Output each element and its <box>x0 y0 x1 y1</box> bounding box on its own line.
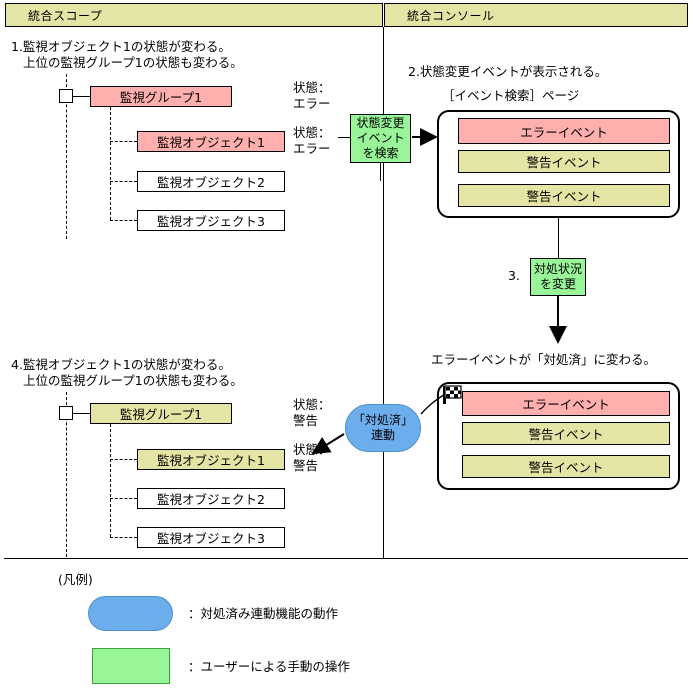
tree-branch-top-3 <box>110 220 137 221</box>
tree-child-spine-bottom <box>110 424 111 537</box>
event-row-after-2[interactable]: 警告イベント <box>462 422 670 445</box>
step1-line1: 1.監視オブジェクト1の状態が変わる。 <box>11 39 231 55</box>
tree-child-spine-top <box>110 107 111 220</box>
legend-label-manual-op: ：ユーザーによる手動の操作 <box>188 659 350 675</box>
monitor-object-box-bottom-3[interactable]: 監視オブジェクト3 <box>137 527 285 548</box>
monitor-object-label-top-2: 監視オブジェクト2 <box>157 172 265 191</box>
monitor-object-box-top-2[interactable]: 監視オブジェクト2 <box>137 171 285 192</box>
status-value-group-bottom: 警告 <box>293 413 318 429</box>
manual-op-search-event-line1: 状態変更 <box>356 116 404 131</box>
legend-title: (凡例) <box>58 572 93 588</box>
event-row-before-3[interactable]: 警告イベント <box>458 184 670 207</box>
monitor-object-box-top-1[interactable]: 監視オブジェクト1 <box>137 131 285 152</box>
monitor-object-box-bottom-1[interactable]: 監視オブジェクト1 <box>137 449 285 470</box>
manual-op-search-event-line2: イベント <box>356 131 404 146</box>
legend-swatch-link-action <box>88 596 173 631</box>
monitor-object-box-top-3[interactable]: 監視オブジェクト3 <box>137 210 285 231</box>
connector-panel-to-step3 <box>558 218 559 258</box>
legend-divider <box>4 558 688 559</box>
connector-search-tail <box>380 163 381 181</box>
manual-op-change-status[interactable]: 対処状況 を変更 <box>530 258 586 296</box>
status-value-object-bottom: 警告 <box>293 458 318 474</box>
status-label-object-top: 状態： <box>293 125 331 141</box>
event-row-after-3[interactable]: 警告イベント <box>462 455 670 478</box>
tree-branch-top-2 <box>110 181 137 182</box>
connector-status-to-search <box>338 137 350 138</box>
step2-text: 2.状態変更イベントが表示される。 <box>408 64 607 80</box>
manual-op-search-event-line3: を検索 <box>362 146 398 161</box>
tree-root-node-top <box>59 89 73 103</box>
link-callout-line2: 連動 <box>371 428 395 443</box>
after-change-caption: エラーイベントが「対処済」に変わる。 <box>431 352 656 368</box>
tree-root-connector-bottom <box>73 413 90 414</box>
tree-branch-bottom-2 <box>110 498 137 499</box>
step1-line2: 上位の監視グループ1の状態も変わる。 <box>23 55 243 71</box>
monitor-object-label-top-1: 監視オブジェクト1 <box>157 132 265 151</box>
event-search-page-label: ［イベント検索］ページ <box>442 88 579 104</box>
column-header-scope-label: 統合スコープ <box>6 7 102 24</box>
event-row-after-3-label: 警告イベント <box>528 457 603 476</box>
step4-line1: 4.監視オブジェクト1の状態が変わる。 <box>11 357 231 373</box>
monitor-object-label-top-3: 監視オブジェクト3 <box>157 211 265 230</box>
status-value-group-top: エラー <box>293 96 331 112</box>
tree-branch-bottom-3 <box>110 537 137 538</box>
tree-root-node-bottom <box>59 406 73 420</box>
step4-line2: 上位の監視グループ1の状態も変わる。 <box>23 373 243 389</box>
monitor-object-box-bottom-2[interactable]: 監視オブジェクト2 <box>137 488 285 509</box>
event-row-before-3-label: 警告イベント <box>526 186 601 205</box>
event-row-after-1-label: エラーイベント <box>522 394 610 413</box>
tree-branch-top-1 <box>110 141 137 142</box>
tree-root-connector-top <box>73 96 90 97</box>
status-label-group-top: 状態： <box>293 80 331 96</box>
tree-branch-bottom-1 <box>110 459 137 460</box>
monitor-group-box-bottom[interactable]: 監視グループ1 <box>90 403 232 424</box>
step3-number: 3. <box>508 268 520 284</box>
column-header-scope: 統合スコープ <box>5 3 383 27</box>
status-value-object-top: エラー <box>293 141 331 157</box>
monitor-object-label-bottom-2: 監視オブジェクト2 <box>157 489 265 508</box>
event-row-before-1[interactable]: エラーイベント <box>458 118 670 144</box>
event-row-after-2-label: 警告イベント <box>528 424 603 443</box>
link-callout-line1: 「対処済」 <box>353 413 413 428</box>
monitor-group-box-top[interactable]: 監視グループ1 <box>90 86 232 107</box>
column-header-console-label: 統合コンソール <box>385 7 495 24</box>
event-row-before-2[interactable]: 警告イベント <box>458 150 670 173</box>
monitor-group-label-bottom: 監視グループ1 <box>120 404 202 423</box>
column-header-console: 統合コンソール <box>384 3 688 27</box>
monitor-object-label-bottom-3: 監視オブジェクト3 <box>157 528 265 547</box>
manual-op-change-status-line1: 対処状況 <box>534 262 582 277</box>
status-label-object-bottom: 状態： <box>293 442 331 458</box>
legend-label-link-action: ：対処済み連動機能の動作 <box>188 606 338 622</box>
event-row-before-2-label: 警告イベント <box>526 152 601 171</box>
manual-op-change-status-line2: を変更 <box>540 277 576 292</box>
manual-op-search-event[interactable]: 状態変更 イベント を検索 <box>350 114 411 163</box>
monitor-object-label-bottom-1: 監視オブジェクト1 <box>157 450 265 469</box>
diagram-canvas: 統合スコープ 統合コンソール 1.監視オブジェクト1の状態が変わる。 上位の監視… <box>0 0 693 688</box>
monitor-group-label-top: 監視グループ1 <box>120 87 202 106</box>
legend-swatch-manual-op <box>92 648 170 684</box>
column-divider <box>383 27 384 558</box>
status-label-group-bottom: 状態： <box>293 397 331 413</box>
link-callout-taishozumi: 「対処済」 連動 <box>345 404 421 452</box>
event-row-after-1[interactable]: エラーイベント <box>462 391 670 416</box>
event-row-before-1-label: エラーイベント <box>520 122 608 141</box>
